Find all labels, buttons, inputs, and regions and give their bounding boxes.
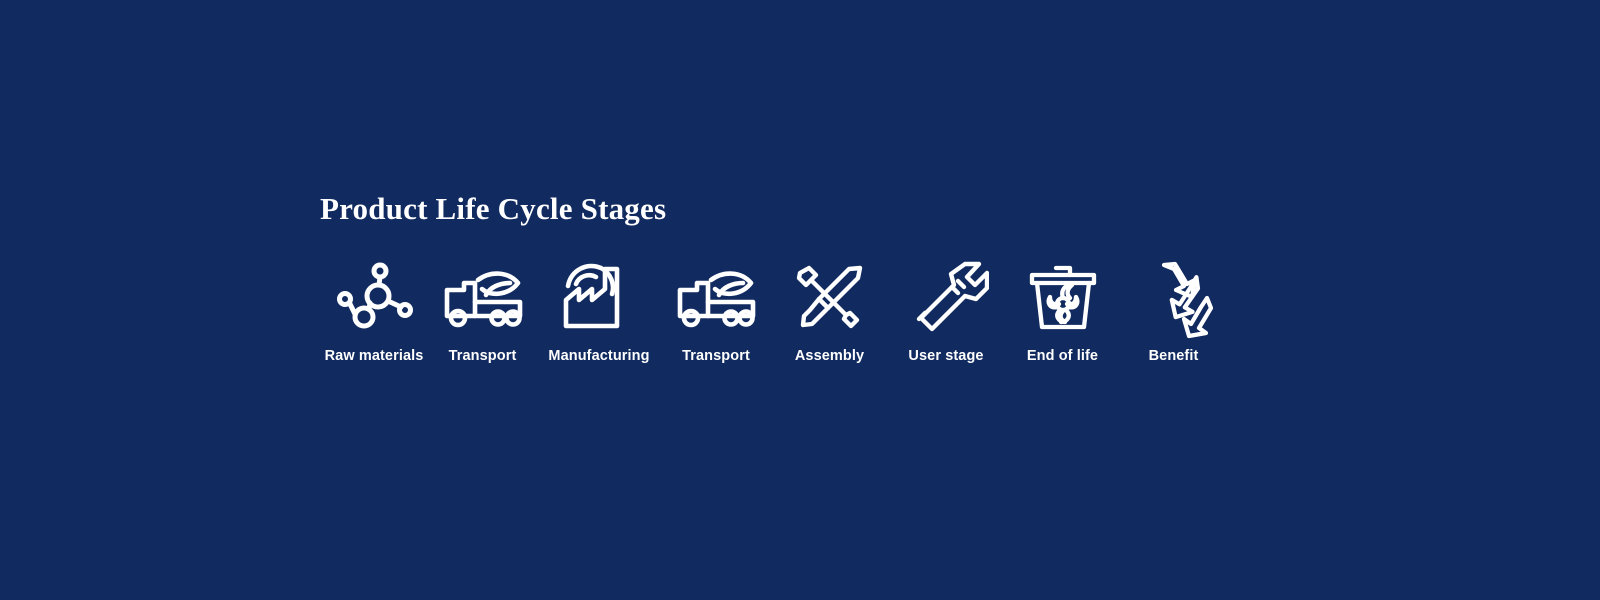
wrench-screwdriver-cross-icon xyxy=(787,254,873,340)
stage-item-transport-2[interactable]: Transport xyxy=(661,254,771,364)
molecule-icon xyxy=(331,254,417,340)
truck-leaf-icon xyxy=(673,254,759,340)
wrench-icon xyxy=(903,254,989,340)
stage-label: Manufacturing xyxy=(548,348,649,364)
stage-item-transport-1[interactable]: Transport xyxy=(428,254,537,364)
stage-label: End of life xyxy=(1027,348,1098,364)
stage-item-raw-materials[interactable]: Raw materials xyxy=(320,254,428,364)
stage-item-user-stage[interactable]: User stage xyxy=(888,254,1004,364)
recycling-icon xyxy=(1131,254,1217,340)
stage-label: Assembly xyxy=(795,348,864,364)
stage-item-end-of-life[interactable]: End of life xyxy=(1004,254,1121,364)
stage-list: Raw materials xyxy=(320,254,1280,364)
stage-label: Transport xyxy=(449,348,517,364)
stage-label: Benefit xyxy=(1149,348,1199,364)
page-canvas: Product Life Cycle Stages xyxy=(0,0,1600,600)
truck-leaf-icon xyxy=(440,254,526,340)
stage-label: User stage xyxy=(908,348,983,364)
stage-label: Raw materials xyxy=(325,348,424,364)
biohazard-bin-icon xyxy=(1020,254,1106,340)
stage-item-benefit[interactable]: Benefit xyxy=(1121,254,1226,364)
product-life-cycle-infographic: Product Life Cycle Stages xyxy=(320,192,1280,364)
stage-label: Transport xyxy=(682,348,750,364)
page-title: Product Life Cycle Stages xyxy=(320,192,1280,226)
factory-leaf-icon xyxy=(556,254,642,340)
stage-item-assembly[interactable]: Assembly xyxy=(771,254,888,364)
stage-item-manufacturing[interactable]: Manufacturing xyxy=(537,254,661,364)
